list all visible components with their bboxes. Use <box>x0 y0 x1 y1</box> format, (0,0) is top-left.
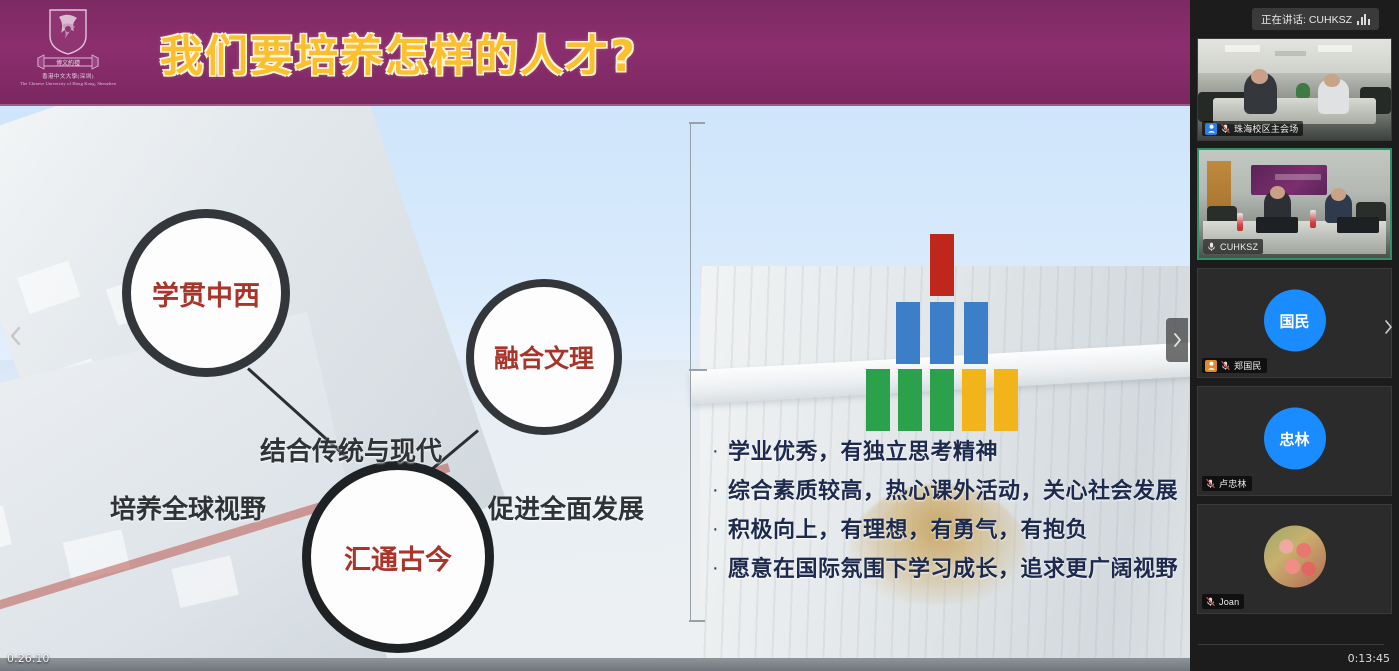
mic-muted-icon <box>1220 360 1231 371</box>
bullet-text: 愿意在国际氛围下学习成长，追求更广阔视野 <box>728 553 1178 586</box>
bullet-list: · 学业优秀，有独立思考精神 · 综合素质较高，热心课外活动，关心社会发展 · … <box>712 436 1182 592</box>
bullet-marker: · <box>712 475 728 505</box>
speaker-wave-icon <box>1357 14 1370 25</box>
active-speaker-banner: 正在讲话: CUHKSZ <box>1252 8 1379 30</box>
people-pyramid-graphic <box>852 234 1032 426</box>
participant-video-rail: 正在讲话: CUHKSZ <box>1190 0 1399 671</box>
video-tile[interactable]: 珠海校区主会场 <box>1197 38 1392 141</box>
list-item: · 愿意在国际氛围下学习成长，追求更广阔视野 <box>712 553 1182 586</box>
list-item: · 综合素质较高，热心课外活动，关心社会发展 <box>712 475 1182 508</box>
video-tile-label: 珠海校区主会场 <box>1202 121 1303 136</box>
circle-label-1: 学贯中西 <box>152 274 260 313</box>
avatar: 忠林 <box>1264 408 1326 470</box>
logo-name-cn: 香港中文大學(深圳) <box>18 72 118 80</box>
chevron-right-icon[interactable] <box>1166 318 1188 362</box>
video-tile-name: 珠海校区主会场 <box>1234 122 1298 135</box>
shared-slide-stage: 博文約禮 香港中文大學(深圳) The Chinese University o… <box>0 0 1190 671</box>
circle-item-1: 学贯中西 <box>122 209 290 377</box>
slide-elapsed-time: 0:26:10 <box>7 652 49 665</box>
avatar: 国民 <box>1264 290 1326 352</box>
svg-text:博文約禮: 博文約禮 <box>56 59 80 67</box>
participant-label: Joan <box>1202 594 1244 609</box>
avatar-initials: 忠林 <box>1279 428 1309 449</box>
mic-muted-icon <box>1205 596 1216 607</box>
bullet-marker: · <box>712 436 728 466</box>
participant-tile[interactable]: 国民 郑国民 <box>1197 268 1392 378</box>
pyramid-person <box>930 302 954 364</box>
crest-ribbon-icon: 博文約禮 <box>36 54 100 70</box>
participant-tile[interactable]: Joan <box>1197 504 1392 614</box>
video-tile-name: CUHKSZ <box>1220 242 1258 252</box>
participant-name: 卢忠林 <box>1219 477 1247 490</box>
participant-label: 卢忠林 <box>1202 476 1252 491</box>
list-item: · 学业优秀，有独立思考精神 <box>712 436 1182 469</box>
crest-shield-icon <box>49 9 87 55</box>
participant-tile[interactable]: 忠林 卢忠林 <box>1197 386 1392 496</box>
slide-content: 学贯中西 融合文理 汇通古今 结合传统与现代 培养全球视野 促进全面发展 <box>0 106 1190 658</box>
meeting-screen-share-window: 博文約禮 香港中文大學(深圳) The Chinese University o… <box>0 0 1399 671</box>
meeting-elapsed-time: 0:13:45 <box>1348 652 1390 665</box>
pyramid-person <box>896 302 920 364</box>
video-tile[interactable]: CUHKSZ <box>1197 148 1392 260</box>
slide-bottom-strip <box>0 658 1190 671</box>
participant-badge-icon <box>1205 123 1217 135</box>
pyramid-person <box>866 369 890 431</box>
mic-muted-icon <box>1206 241 1217 252</box>
mic-muted-icon <box>1205 478 1216 489</box>
bullet-text: 综合素质较高，热心课外活动，关心社会发展 <box>728 475 1178 508</box>
bullet-text: 学业优秀，有独立思考精神 <box>728 436 998 469</box>
content-bracket <box>690 122 710 622</box>
connector-label-middle: 结合传统与现代 <box>260 431 442 468</box>
chevron-left-icon[interactable] <box>2 318 28 354</box>
host-badge-icon <box>1205 360 1217 372</box>
chevron-right-icon[interactable] <box>1380 312 1396 342</box>
video-tile-label: CUHKSZ <box>1203 239 1263 254</box>
logo-name-en: The Chinese University of Hong Kong, She… <box>18 81 118 86</box>
cuhk-crest-icon: 博文約禮 香港中文大學(深圳) The Chinese University o… <box>18 6 118 102</box>
circle-label-3: 汇通古今 <box>344 538 452 577</box>
pyramid-person <box>962 369 986 431</box>
mic-muted-icon <box>1220 123 1231 134</box>
bullet-marker: · <box>712 553 728 583</box>
rail-divider <box>1198 644 1384 645</box>
connector-label-left: 培养全球视野 <box>110 489 266 526</box>
three-circle-diagram: 学贯中西 融合文理 汇通古今 结合传统与现代 培养全球视野 促进全面发展 <box>100 191 700 651</box>
participant-name: Joan <box>1219 597 1239 607</box>
list-item: · 积极向上，有理想，有勇气，有抱负 <box>712 514 1182 547</box>
pyramid-person <box>964 302 988 364</box>
participant-name: 郑国民 <box>1234 359 1262 372</box>
pyramid-person <box>898 369 922 431</box>
slide-title-bar: 博文約禮 香港中文大學(深圳) The Chinese University o… <box>0 0 1190 106</box>
slide-title: 我们要培养怎样的人才? <box>160 22 1060 84</box>
bullet-text: 积极向上，有理想，有勇气，有抱负 <box>728 514 1088 547</box>
bullet-marker: · <box>712 514 728 544</box>
circle-item-2: 融合文理 <box>466 279 622 435</box>
pyramid-person <box>994 369 1018 431</box>
avatar <box>1264 526 1326 588</box>
active-speaker-label: 正在讲话: CUHKSZ <box>1261 12 1352 27</box>
pyramid-person <box>930 369 954 431</box>
participant-label: 郑国民 <box>1202 358 1267 373</box>
circle-item-3: 汇通古今 <box>302 461 494 653</box>
circle-label-2: 融合文理 <box>494 339 594 375</box>
avatar-initials: 国民 <box>1279 310 1309 331</box>
connector-label-right: 促进全面发展 <box>488 489 644 526</box>
pyramid-person <box>930 234 954 296</box>
